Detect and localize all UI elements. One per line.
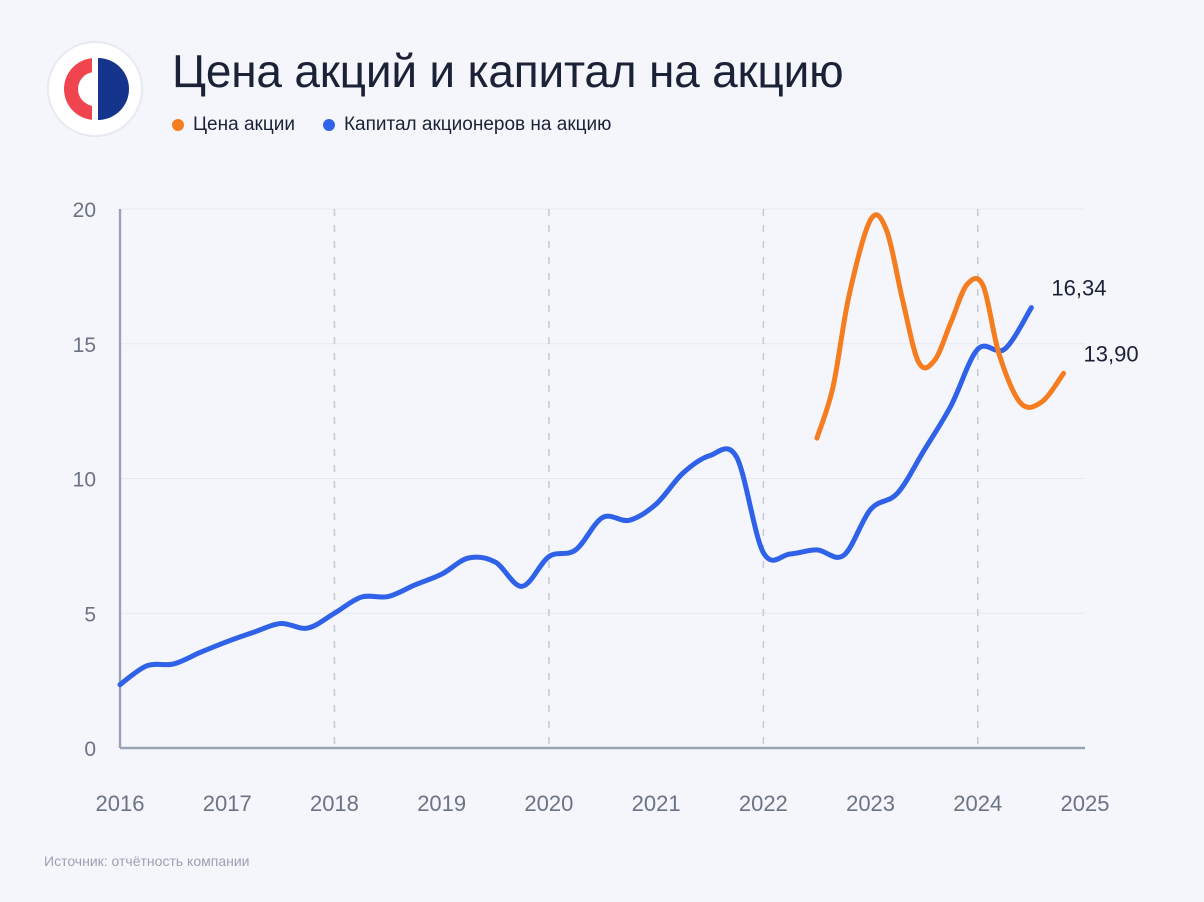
- y-tick-label: 0: [84, 738, 96, 761]
- value-label-equity: 16,34: [1051, 276, 1106, 301]
- legend-dot-price: [172, 119, 184, 131]
- y-tick-label: 10: [73, 469, 96, 492]
- x-tick-label: 2019: [417, 791, 466, 816]
- y-tick-label: 20: [73, 199, 96, 222]
- x-tick-label: 2016: [96, 791, 145, 816]
- x-tick-label: 2025: [1061, 791, 1110, 816]
- y-tick-label: 5: [84, 603, 96, 626]
- x-tick-label: 2017: [203, 791, 252, 816]
- chart-legend: Цена акции Капитал акционеров на акцию: [172, 114, 611, 136]
- x-tick-label: 2024: [953, 791, 1002, 816]
- x-tick-label: 2020: [524, 791, 573, 816]
- source-note: Источник: отчётность компании: [44, 853, 249, 869]
- legend-label-price: Цена акции: [193, 114, 295, 136]
- legend-item-equity[interactable]: Капитал акционеров на акцию: [323, 114, 611, 136]
- x-tick-label: 2021: [632, 791, 681, 816]
- series-line-price: [817, 215, 1064, 438]
- x-tick-label: 2018: [310, 791, 359, 816]
- legend-label-equity: Капитал акционеров на акцию: [344, 114, 611, 136]
- chart-area: 0510152020162017201820192020202120222023…: [0, 170, 1204, 830]
- legend-dot-equity: [323, 119, 335, 131]
- legend-item-price[interactable]: Цена акции: [172, 114, 295, 136]
- chart-header: Цена акций и капитал на акцию Цена акции…: [0, 0, 1204, 170]
- y-tick-label: 15: [73, 334, 96, 357]
- value-label-price: 13,90: [1084, 341, 1139, 366]
- series-line-equity: [120, 308, 1031, 685]
- company-logo: [48, 42, 142, 136]
- page-title: Цена акций и капитал на акцию: [172, 44, 843, 98]
- x-tick-label: 2023: [846, 791, 895, 816]
- line-chart: 0510152020162017201820192020202120222023…: [0, 170, 1204, 830]
- x-tick-label: 2022: [739, 791, 788, 816]
